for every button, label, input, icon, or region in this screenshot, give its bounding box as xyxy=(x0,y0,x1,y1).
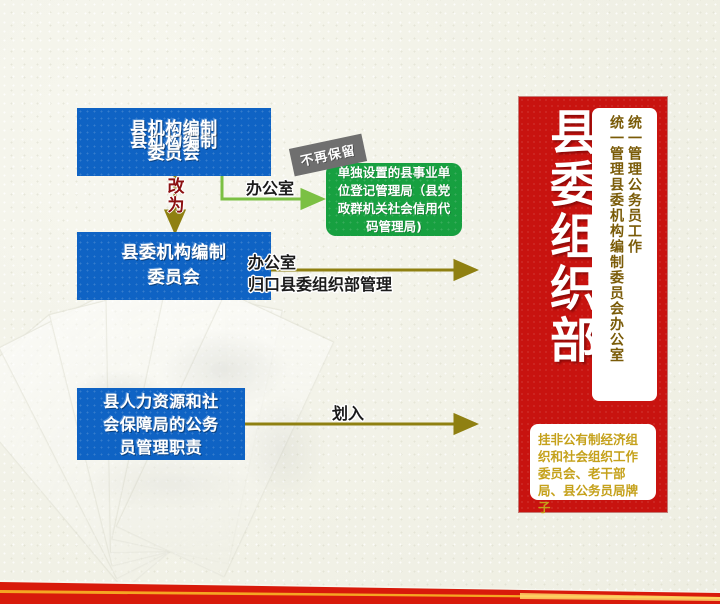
bottom-decorative-band xyxy=(0,544,720,604)
panel-heading: 县委组织部 xyxy=(533,107,599,367)
panel-plaque-note: 挂非公有制经济组织和社会组织工作委员会、老干部局、县公务员局牌子 xyxy=(530,424,656,500)
arrow-label-change-to: 改 为 xyxy=(166,178,186,216)
line: 政群机关社会信用代 xyxy=(338,200,451,218)
panel-vertical-note-2: 统一管理县委机构编制委员会办公室 xyxy=(608,115,623,394)
box-registration-bureau[interactable]: 单独设置的县事业单 位登记管理局（县党 政群机关社会信用代 码管理局) xyxy=(326,163,462,236)
line: 位登记管理局（县党 xyxy=(338,182,451,200)
diagram-canvas: 县机构编制 县机构编制 委员会 县委机构编制 委员会 县人力资源和社 会保障局的… xyxy=(0,0,720,604)
line: 委员会 xyxy=(148,142,201,167)
panel-vertical-note-1: 统一管理公务员工作 xyxy=(626,115,641,394)
line: 县委机构编制 xyxy=(122,241,227,266)
line: 单独设置的县事业单 xyxy=(338,164,451,182)
line: 县机构编制 xyxy=(130,117,218,142)
line: 改 xyxy=(166,178,186,197)
arrow-label-office-green: 办公室 xyxy=(246,175,294,199)
line: 县人力资源和社 xyxy=(103,390,219,413)
line: 码管理局) xyxy=(366,218,422,236)
box-old-commission-text: 县机构编制 委员会 xyxy=(77,108,271,176)
arrow-label-office-panel: 办公室 xyxy=(248,249,296,273)
arrow-label-transfer-in: 划入 xyxy=(332,400,364,424)
line: 会保障局的公务 xyxy=(103,413,219,436)
box-new-commission[interactable]: 县委机构编制 委员会 xyxy=(77,232,271,300)
line: 员管理职责 xyxy=(120,436,203,459)
line: 为 xyxy=(166,197,186,216)
panel-vertical-notes-card: 统一管理公务员工作 统一管理县委机构编制委员会办公室 xyxy=(592,108,657,401)
panel-organization-department[interactable]: 县委组织部 统一管理公务员工作 统一管理县委机构编制委员会办公室 挂非公有制经济… xyxy=(519,97,667,512)
box-hr-bureau-duties[interactable]: 县人力资源和社 会保障局的公务 员管理职责 xyxy=(77,388,245,460)
arrow-label-managed-by-organization-department: 归口县委组织部管理 xyxy=(248,271,392,295)
line: 委员会 xyxy=(148,266,201,291)
